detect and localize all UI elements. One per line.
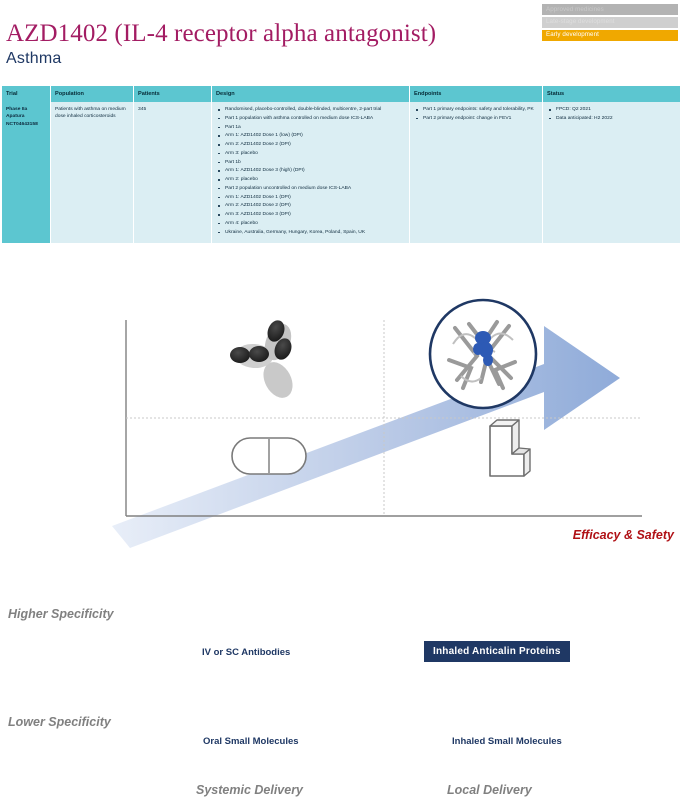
capsule-pill-icon <box>232 438 306 474</box>
cell-population: Patients with asthma on medium dose inha… <box>51 102 134 243</box>
antibody-icon <box>230 318 298 403</box>
axis-label-higher-specificity: Higher Specificity <box>8 607 114 621</box>
positioning-quadrant-diagram: Higher Specificity Lower Specificity Sys… <box>0 258 682 556</box>
list-item: Arm 2: AZD1402 Dose 2 (DPI) <box>216 202 405 209</box>
quadrant-label-inhaled-anticalin-proteins: Inhaled Anticalin Proteins <box>424 641 570 662</box>
list-item: Arm 4: placebo <box>216 220 405 227</box>
list-item: Arm 3: placebo <box>216 150 405 157</box>
cell-design: Randomised, placebo-controlled, double-b… <box>212 102 410 243</box>
legend-badge-early-development[interactable]: Early development <box>542 30 678 41</box>
inhaler-icon <box>490 420 530 476</box>
list-item: Part 2 primary endpoint: change in FEV1 <box>414 115 538 122</box>
development-stage-legend: Approved medicines Late-stage developmen… <box>542 4 678 42</box>
quadrant-label-oral-small-molecules: Oral Small Molecules <box>203 736 299 747</box>
trial-name: Apatura <box>6 113 46 120</box>
arrow-label-efficacy-safety: Efficacy & Safety <box>573 528 674 542</box>
list-item: Arm 2: AZD1402 Dose 2 (DPI) <box>216 141 405 148</box>
axis-label-systemic-delivery: Systemic Delivery <box>196 783 303 797</box>
diagram-canvas <box>0 258 682 556</box>
list-item: Arm 1: AZD1402 Dose 1 (low) (DPI) <box>216 132 405 139</box>
trial-phase: Phase IIa <box>6 106 46 113</box>
column-header-population: Population <box>51 86 134 102</box>
table-row: Phase IIa Apatura NCT04643158 Patients w… <box>2 102 680 243</box>
list-item: Ukraine, Australia, Germany, Hungary, Ko… <box>216 229 405 236</box>
list-item: Part 1b <box>216 159 405 166</box>
list-item: Arm 1: AZD1402 Dose 1 (DPI) <box>216 194 405 201</box>
column-header-status: Status <box>543 86 681 102</box>
table-header-row: Trial Population Patients Design Endpoin… <box>2 86 680 102</box>
axis-label-lower-specificity: Lower Specificity <box>8 715 111 729</box>
list-item: Arm 3: AZD1402 Dose 3 (DPI) <box>216 211 405 218</box>
cell-endpoints: Part 1 primary endpoints: safety and tol… <box>410 102 543 243</box>
list-item: Part 2 population uncontrolled on medium… <box>216 185 405 192</box>
list-item: Arm 2: placebo <box>216 176 405 183</box>
trial-nct-id: NCT04643158 <box>6 121 46 128</box>
list-item: Arm 1: AZD1402 Dose 3 (high) (DPI) <box>216 167 405 174</box>
design-bullet-list: Randomised, placebo-controlled, double-b… <box>216 106 405 236</box>
trials-table-container: Trial Population Patients Design Endpoin… <box>2 86 680 243</box>
endpoints-bullet-list: Part 1 primary endpoints: safety and tol… <box>414 106 538 122</box>
column-header-design: Design <box>212 86 410 102</box>
list-item: Part 1a <box>216 124 405 131</box>
quadrant-label-inhaled-small-molecules: Inhaled Small Molecules <box>452 736 562 747</box>
anticalin-protein-icon <box>430 300 536 408</box>
list-item: FPCD: Q2 2021 <box>547 106 676 113</box>
page-title: AZD1402 (IL-4 receptor alpha antagonist) <box>6 20 436 48</box>
list-item: Part 1 population with asthma controlled… <box>216 115 405 122</box>
efficacy-safety-arrow-icon <box>112 326 620 548</box>
cell-status: FPCD: Q2 2021 Data anticipated: H2 2022 <box>543 102 681 243</box>
axis-label-local-delivery: Local Delivery <box>447 783 532 797</box>
legend-badge-approved-medicines[interactable]: Approved medicines <box>542 4 678 15</box>
quadrant-label-iv-sc-antibodies: IV or SC Antibodies <box>202 647 290 658</box>
legend-badge-late-stage-development[interactable]: Late-stage development <box>542 17 678 28</box>
cell-patients: 345 <box>134 102 212 243</box>
list-item: Data anticipated: H2 2022 <box>547 115 676 122</box>
page-subtitle: Asthma <box>6 50 61 68</box>
column-header-endpoints: Endpoints <box>410 86 543 102</box>
status-bullet-list: FPCD: Q2 2021 Data anticipated: H2 2022 <box>547 106 676 122</box>
list-item: Part 1 primary endpoints: safety and tol… <box>414 106 538 113</box>
column-header-patients: Patients <box>134 86 212 102</box>
cell-trial: Phase IIa Apatura NCT04643158 <box>2 102 51 243</box>
trials-table: Trial Population Patients Design Endpoin… <box>2 86 680 243</box>
list-item: Randomised, placebo-controlled, double-b… <box>216 106 405 113</box>
column-header-trial: Trial <box>2 86 51 102</box>
